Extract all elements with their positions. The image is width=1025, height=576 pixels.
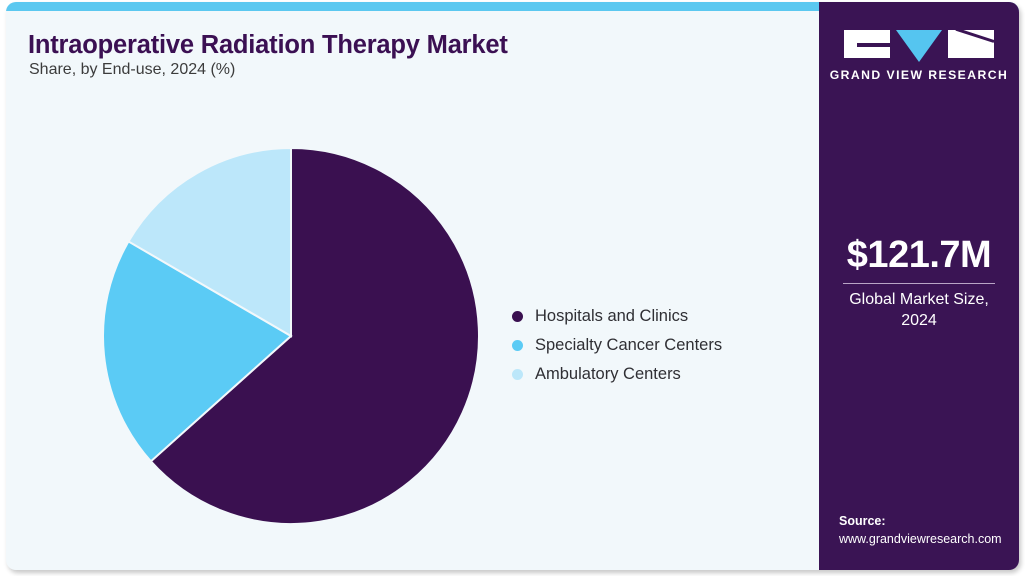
pie-chart-svg xyxy=(96,141,486,531)
market-size-value: $121.7M xyxy=(819,236,1019,276)
logo-marks xyxy=(819,30,1019,60)
main-content-area: Intraoperative Radiation Therapy Market … xyxy=(6,11,819,570)
market-size-stat: $121.7M Global Market Size, 2024 xyxy=(819,236,1019,331)
legend-item-label: Hospitals and Clinics xyxy=(535,307,688,326)
chart-legend: Hospitals and Clinics Specialty Cancer C… xyxy=(512,302,722,389)
source-block: Source: www.grandviewresearch.com xyxy=(839,512,1019,548)
brand-logo: GRAND VIEW RESEARCH xyxy=(819,30,1019,82)
market-size-caption: Global Market Size, 2024 xyxy=(819,290,1019,332)
source-label: Source: xyxy=(839,512,1019,530)
logo-letter-g-icon xyxy=(844,30,890,58)
legend-swatch-icon xyxy=(512,369,523,380)
legend-item-hospitals-and-clinics[interactable]: Hospitals and Clinics xyxy=(512,302,722,331)
legend-item-ambulatory-centers[interactable]: Ambulatory Centers xyxy=(512,360,722,389)
legend-item-label: Ambulatory Centers xyxy=(535,365,681,384)
legend-item-specialty-cancer-centers[interactable]: Specialty Cancer Centers xyxy=(512,331,722,360)
legend-item-label: Specialty Cancer Centers xyxy=(535,336,722,355)
brand-name: GRAND VIEW RESEARCH xyxy=(819,68,1019,82)
brand-sidebar: GRAND VIEW RESEARCH $121.7M Global Marke… xyxy=(819,2,1019,570)
stat-divider xyxy=(843,283,995,284)
logo-letter-r-icon xyxy=(948,30,994,58)
legend-swatch-icon xyxy=(512,340,523,351)
pie-slice-group xyxy=(103,148,479,524)
legend-swatch-icon xyxy=(512,311,523,322)
source-url[interactable]: www.grandviewresearch.com xyxy=(839,530,1019,548)
page-title: Intraoperative Radiation Therapy Market xyxy=(28,31,508,60)
logo-letter-v-triangle-icon xyxy=(896,30,942,62)
page-subtitle: Share, by End-use, 2024 (%) xyxy=(29,61,235,79)
infographic-card: Intraoperative Radiation Therapy Market … xyxy=(6,2,1019,570)
pie-chart xyxy=(96,141,486,531)
